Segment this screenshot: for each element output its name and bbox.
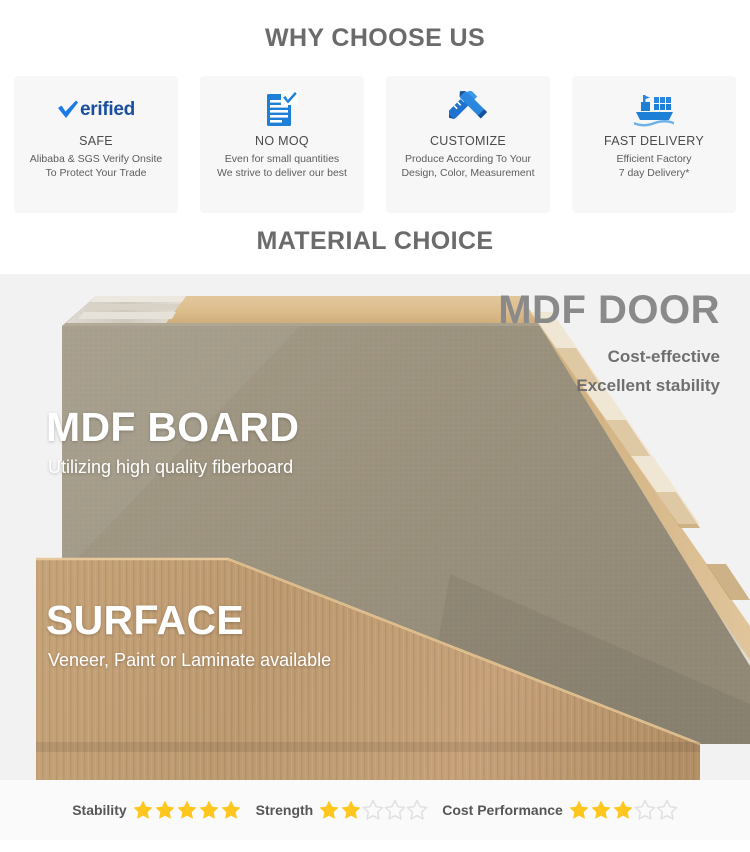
feature-card-desc-line1: Alibaba & SGS Verify Onsite — [30, 152, 162, 166]
rating-group: Stability — [72, 799, 241, 821]
feature-card-desc-line2: 7 day Delivery* — [616, 166, 691, 180]
mdf-door-bullet-2: Excellent stability — [498, 376, 720, 396]
rating-stars — [132, 799, 242, 821]
rating-group: Cost Performance — [442, 799, 678, 821]
feature-card-desc-line1: Even for small quantities — [217, 152, 347, 166]
pencil-ruler-icon-wrap — [449, 90, 487, 130]
surface-subtitle: Veneer, Paint or Laminate available — [48, 650, 331, 671]
mdf-door-title: MDF DOOR — [498, 289, 720, 331]
star-filled-icon — [154, 799, 176, 821]
star-empty-icon — [634, 799, 656, 821]
star-filled-icon — [198, 799, 220, 821]
document-check-icon-wrap — [265, 90, 299, 130]
rating-group: Strength — [256, 799, 429, 821]
star-filled-icon — [176, 799, 198, 821]
feature-card-desc: Efficient Factory 7 day Delivery* — [614, 152, 693, 180]
mdf-door-text-block: MDF DOOR Cost-effective Excellent stabil… — [498, 289, 720, 396]
star-filled-icon — [568, 799, 590, 821]
feature-card-desc-line1: Efficient Factory — [616, 152, 691, 166]
star-filled-icon — [340, 799, 362, 821]
star-filled-icon — [132, 799, 154, 821]
star-empty-icon — [362, 799, 384, 821]
material-choice-heading-wrap: MATERIAL CHOICE — [0, 213, 750, 274]
cargo-ship-icon-wrap — [632, 90, 676, 130]
star-filled-icon — [220, 799, 242, 821]
ratings-bar: StabilityStrengthCost Performance — [0, 780, 750, 840]
star-empty-icon — [384, 799, 406, 821]
verified-wordmark: erified — [80, 99, 135, 121]
rating-label: Cost Performance — [442, 802, 563, 818]
verified-badge-icon: erified — [57, 90, 135, 130]
mdf-door-bullet-1: Cost-effective — [498, 347, 720, 367]
mdf-board-subtitle: Utilizing high quality fiberboard — [48, 457, 299, 478]
feature-card-title: NO MOQ — [255, 134, 309, 148]
feature-card-title: CUSTOMIZE — [430, 134, 506, 148]
star-empty-icon — [406, 799, 428, 821]
why-choose-us-heading: WHY CHOOSE US — [0, 24, 750, 59]
document-check-icon — [265, 91, 299, 129]
rating-stars — [568, 799, 678, 821]
feature-card-no-moq[interactable]: NO MOQ Even for small quantities We stri… — [200, 76, 364, 213]
feature-card-customize[interactable]: CUSTOMIZE Produce According To Your Desi… — [386, 76, 550, 213]
cargo-ship-icon — [632, 93, 676, 127]
why-choose-us-section: WHY CHOOSE US erified SAFE Alibaba & SGS… — [0, 0, 750, 213]
feature-card-desc: Produce According To Your Design, Color,… — [399, 152, 536, 180]
star-empty-icon — [656, 799, 678, 821]
rating-stars — [318, 799, 428, 821]
mdf-board-title: MDF BOARD — [46, 406, 299, 449]
rating-label: Stability — [72, 802, 126, 818]
feature-card-safe[interactable]: erified SAFE Alibaba & SGS Verify Onsite… — [14, 76, 178, 213]
feature-card-title: SAFE — [79, 134, 113, 148]
feature-card-desc-line1: Produce According To Your — [401, 152, 534, 166]
feature-card-desc-line2: Design, Color, Measurement — [401, 166, 534, 180]
material-choice-heading: MATERIAL CHOICE — [0, 227, 750, 262]
feature-card-desc-line2: To Protect Your Trade — [30, 166, 162, 180]
star-filled-icon — [590, 799, 612, 821]
feature-card-desc: Alibaba & SGS Verify Onsite To Protect Y… — [28, 152, 164, 180]
rating-label: Strength — [256, 802, 314, 818]
surface-title: SURFACE — [46, 599, 331, 642]
feature-card-desc-line2: We strive to deliver our best — [217, 166, 347, 180]
feature-card-title: FAST DELIVERY — [604, 134, 704, 148]
star-filled-icon — [318, 799, 340, 821]
surface-text-block: SURFACE Veneer, Paint or Laminate availa… — [46, 599, 331, 671]
star-filled-icon — [612, 799, 634, 821]
check-icon — [57, 100, 79, 120]
material-choice-hero: MDF DOOR Cost-effective Excellent stabil… — [0, 274, 750, 780]
feature-card-fast-delivery[interactable]: FAST DELIVERY Efficient Factory 7 day De… — [572, 76, 736, 213]
mdf-board-text-block: MDF BOARD Utilizing high quality fiberbo… — [46, 406, 299, 478]
feature-card-desc: Even for small quantities We strive to d… — [215, 152, 349, 180]
feature-cards-row: erified SAFE Alibaba & SGS Verify Onsite… — [0, 59, 750, 213]
pencil-ruler-icon — [449, 91, 487, 129]
